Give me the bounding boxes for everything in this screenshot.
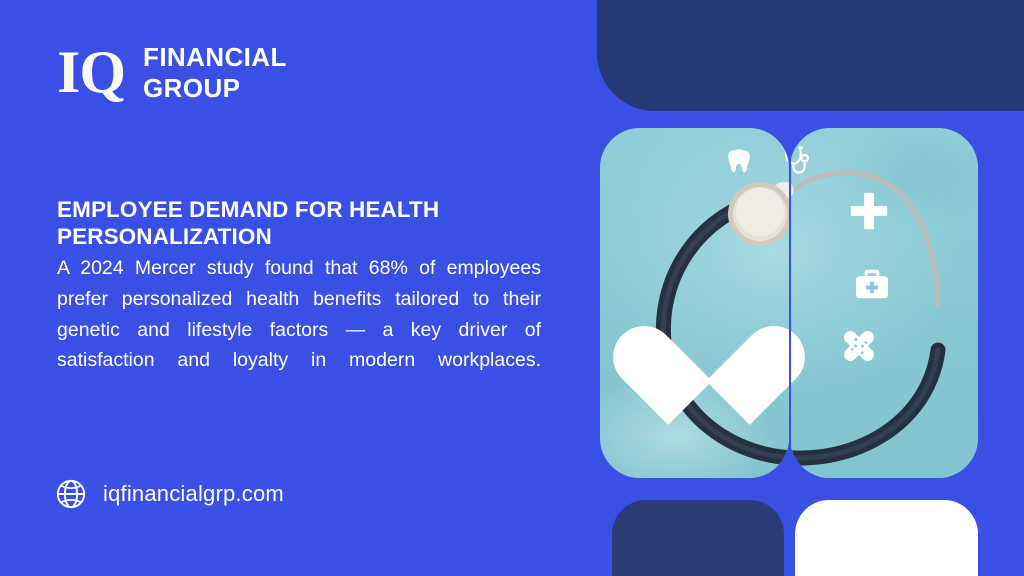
brand-line-2: GROUP (143, 73, 287, 104)
first-aid-kit-icon (854, 268, 890, 300)
brand-logo[interactable]: IQ FINANCIAL GROUP (57, 42, 287, 103)
panel-divider (789, 128, 791, 478)
brand-wordmark: FINANCIAL GROUP (143, 42, 287, 103)
stethoscope-small-icon (790, 144, 814, 180)
page-title: Employee Demand for Health Personalizati… (57, 196, 541, 251)
photo-panel-right (790, 128, 978, 478)
globe-icon (55, 478, 87, 510)
brand-line-1: FINANCIAL (143, 42, 287, 73)
photo-content-left (600, 128, 789, 478)
navy-top-shape (597, 0, 1024, 111)
medical-cross-icon (848, 190, 890, 232)
tooth-icon (724, 144, 754, 178)
stethoscope-small-icon (780, 144, 789, 180)
body-paragraph: A 2024 Mercer study found that 68% of em… (57, 253, 541, 407)
stethoscope-icon (790, 128, 978, 478)
white-bottom-shape (795, 500, 978, 576)
bandages-icon (838, 325, 880, 367)
hero-photo (600, 128, 978, 478)
navy-bottom-shape (612, 500, 784, 576)
website-link[interactable]: iqfinancialgrp.com (55, 478, 284, 510)
photo-content-right (790, 128, 978, 478)
website-url-text: iqfinancialgrp.com (103, 481, 284, 507)
iq-monogram-icon: IQ (57, 44, 125, 101)
photo-panel-left (600, 128, 789, 478)
slide-canvas: IQ FINANCIAL GROUP Employee Demand for H… (0, 0, 1024, 576)
heart-shape (650, 285, 768, 390)
